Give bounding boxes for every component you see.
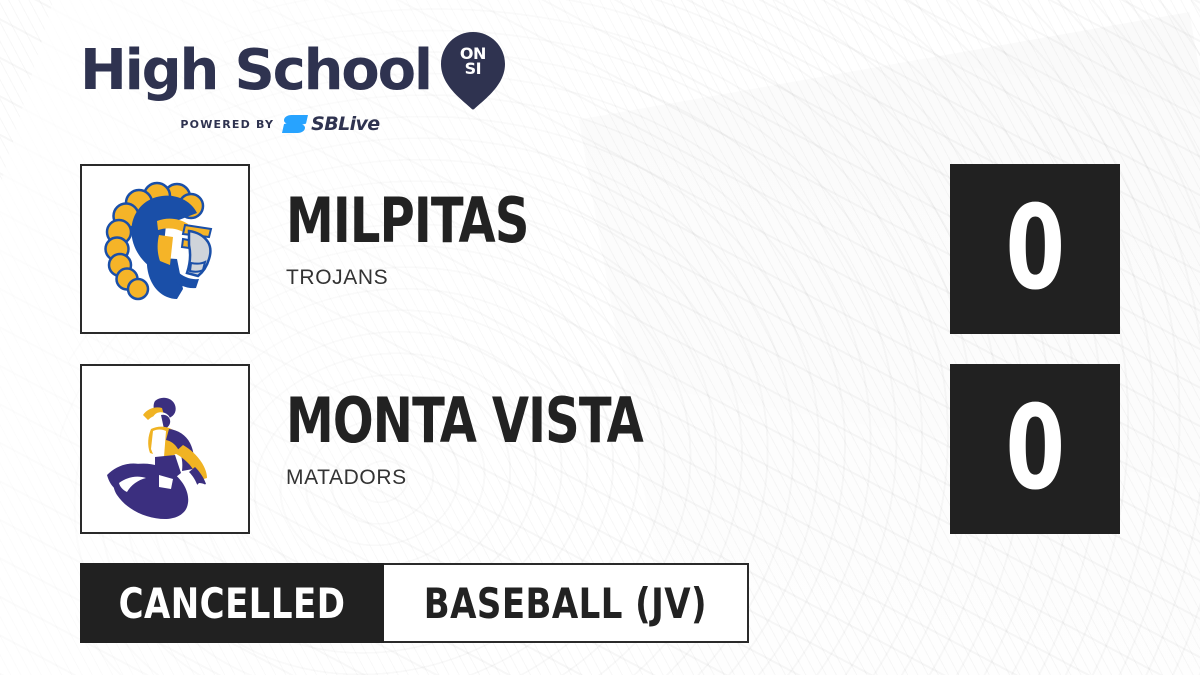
powered-by-row: POWERED BY SBLive: [80, 114, 480, 134]
game-scoreboard-graphic: High School ON SI POWERED BY SBLive: [0, 0, 1200, 675]
team-text-block: MILPITAS TROJANS: [286, 190, 986, 290]
trojan-warrior-head-icon: [95, 179, 235, 319]
team-logo-card: [80, 364, 250, 534]
game-status-bar: CANCELLED BASEBALL (JV): [80, 563, 749, 643]
sblive-s-mark-icon: [282, 114, 308, 134]
page-title: High School: [80, 43, 431, 99]
team-score-box: 0: [950, 164, 1120, 334]
sport-label: BASEBALL (JV): [424, 579, 707, 628]
status-badge-label: CANCELLED: [119, 579, 346, 628]
sport-label-box: BASEBALL (JV): [384, 563, 749, 643]
team-name: MONTA VISTA: [286, 390, 888, 452]
team-text-block: MONTA VISTA MATADORS: [286, 390, 986, 490]
team-mascot: MATADORS: [286, 466, 986, 490]
status-badge: CANCELLED: [80, 563, 384, 643]
team-score: 0: [1005, 191, 1065, 307]
matador-with-cape-icon: [95, 379, 235, 519]
team-score-box: 0: [950, 364, 1120, 534]
brand-title-row: High School ON SI: [80, 32, 505, 110]
team-name: MILPITAS: [286, 190, 888, 252]
brand-header: High School ON SI POWERED BY SBLive: [80, 32, 505, 134]
partner-name: SBLive: [311, 115, 379, 134]
team-logo-card: [80, 164, 250, 334]
team-score: 0: [1005, 391, 1065, 507]
partner-logo: SBLive: [282, 114, 379, 134]
badge-line-si: SI: [441, 61, 505, 76]
map-pin-icon: ON SI: [441, 32, 505, 110]
badge-text: ON SI: [441, 46, 505, 76]
powered-by-label: POWERED BY: [180, 118, 274, 131]
team-mascot: TROJANS: [286, 266, 986, 290]
